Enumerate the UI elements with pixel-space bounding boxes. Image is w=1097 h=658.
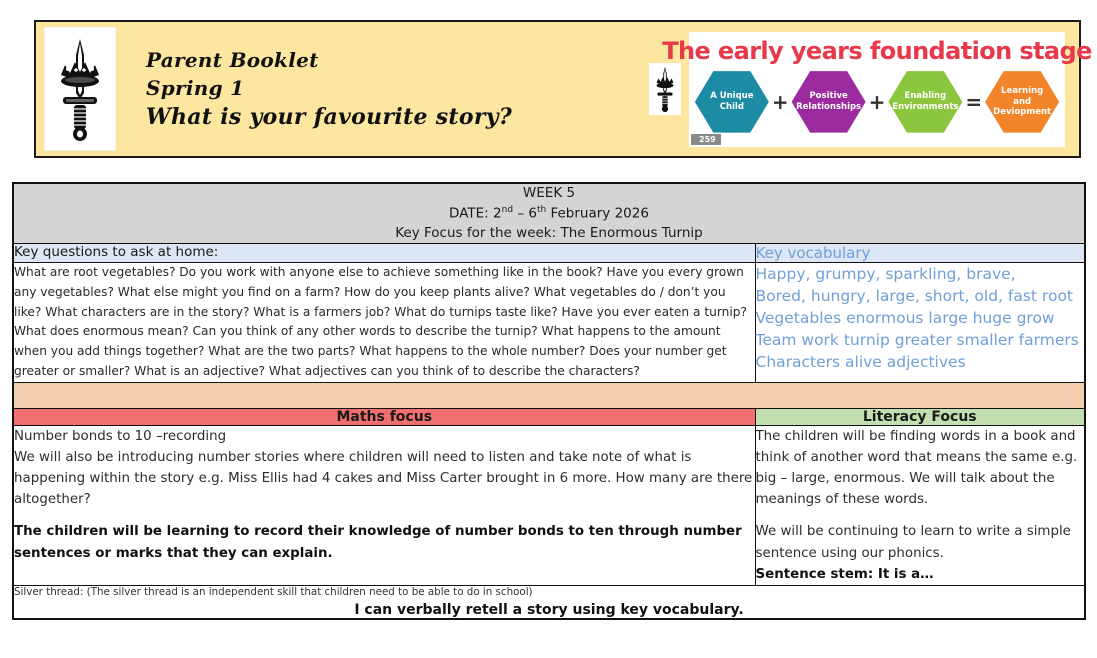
eyfs-hex-unique-child: A Unique Child [695, 70, 769, 134]
maths-gap [14, 510, 755, 521]
date-suffix: February 2026 [546, 205, 649, 221]
date-sup-2: th [537, 205, 546, 215]
sword-crown-crest-icon-small [652, 65, 678, 113]
literacy-gap [756, 510, 1085, 521]
eyfs-operator-plus-1: + [772, 92, 789, 112]
silver-thread-row: Silver thread: (The silver thread is an … [13, 585, 1085, 618]
maths-bold-note: The children will be learning to record … [14, 521, 755, 563]
literacy-focus-body: The children will be finding words in a … [755, 425, 1085, 585]
key-vocabulary-heading: Key vocabulary [755, 244, 1085, 263]
peach-divider-row [13, 382, 1085, 408]
eyfs-operator-plus-2: + [869, 92, 886, 112]
eyfs-operator-equals: = [965, 92, 982, 112]
silver-thread-note: Silver thread: (The silver thread is an … [14, 586, 1084, 600]
date-label: DATE: 2nd – 6th February 2026 [14, 204, 1084, 224]
vocab-line: Vegetables enormous large huge grow [756, 307, 1085, 329]
literacy-paragraph-2: We will be continuing to learn to write … [756, 521, 1085, 563]
weekly-plan-table: WEEK 5 DATE: 2nd – 6th February 2026 Key… [12, 182, 1086, 620]
page-banner: Parent Booklet Spring 1 What is your fav… [34, 20, 1081, 158]
school-crest-large [44, 27, 116, 151]
date-prefix: DATE: 2 [449, 205, 502, 221]
banner-line-1: Parent Booklet [146, 48, 512, 72]
maths-line-1: Number bonds to 10 –recording [14, 426, 755, 447]
key-vocabulary-list: Happy, grumpy, sparkling, brave, Bored, … [755, 263, 1085, 383]
literacy-focus-heading: Literacy Focus [755, 408, 1085, 425]
questions-vocab-row: What are root vegetables? Do you work wi… [13, 263, 1085, 383]
date-mid: – 6 [513, 205, 537, 221]
parent-booklet-page: Parent Booklet Spring 1 What is your fav… [0, 0, 1097, 658]
vocab-line: Bored, hungry, large, short, old, fast r… [756, 285, 1085, 307]
maths-focus-heading: Maths focus [13, 408, 755, 425]
banner-line-2: Spring 1 [146, 76, 512, 100]
eyfs-title: The early years foundation stage [662, 38, 1092, 64]
eyfs-hex-learning-development: Learning and Deviopment [985, 70, 1059, 134]
eyfs-logo: The early years foundation stage A Uniqu… [689, 32, 1065, 147]
literacy-sentence-stem: Sentence stem: It is a… [756, 564, 1085, 585]
silver-thread-goal: I can verbally retell a story using key … [14, 602, 1084, 618]
section-heading-row: Key questions to ask at home: Key vocabu… [13, 244, 1085, 263]
focus-heading-row: Maths focus Literacy Focus [13, 408, 1085, 425]
vocab-line: Team work turnip greater smaller farmers [756, 329, 1085, 351]
peach-spacer-cell [13, 382, 1085, 408]
banner-title-block: Parent Booklet Spring 1 What is your fav… [146, 48, 512, 130]
eyfs-hexagon-row: A Unique Child + Positive Relationships … [695, 70, 1059, 134]
literacy-paragraph-1: The children will be finding words in a … [756, 426, 1085, 511]
week-header-cell: WEEK 5 DATE: 2nd – 6th February 2026 Key… [13, 183, 1085, 244]
key-focus-label: Key Focus for the week: The Enormous Tur… [14, 224, 1084, 244]
eyfs-page-number: 259 [691, 134, 721, 145]
banner-line-3: What is your favourite story? [146, 104, 512, 130]
sword-crown-crest-icon [53, 35, 107, 143]
focus-body-row: Number bonds to 10 –recording We will al… [13, 425, 1085, 585]
week-header-row: WEEK 5 DATE: 2nd – 6th February 2026 Key… [13, 183, 1085, 244]
vocab-line: Characters alive adjectives [756, 351, 1085, 373]
week-label: WEEK 5 [14, 184, 1084, 204]
maths-focus-body: Number bonds to 10 –recording We will al… [13, 425, 755, 585]
eyfs-hex-enabling-environments: Enabling Environments [888, 70, 962, 134]
maths-line-2: We will also be introducing number stori… [14, 447, 755, 511]
school-crest-small [649, 63, 681, 115]
eyfs-hex-positive-relationships: Positive Relationships [792, 70, 866, 134]
key-questions-body: What are root vegetables? Do you work wi… [13, 263, 755, 383]
date-sup-1: nd [502, 205, 513, 215]
vocab-line: Happy, grumpy, sparkling, brave, [756, 263, 1085, 285]
silver-thread-cell: Silver thread: (The silver thread is an … [13, 585, 1085, 618]
key-questions-heading: Key questions to ask at home: [13, 244, 755, 263]
